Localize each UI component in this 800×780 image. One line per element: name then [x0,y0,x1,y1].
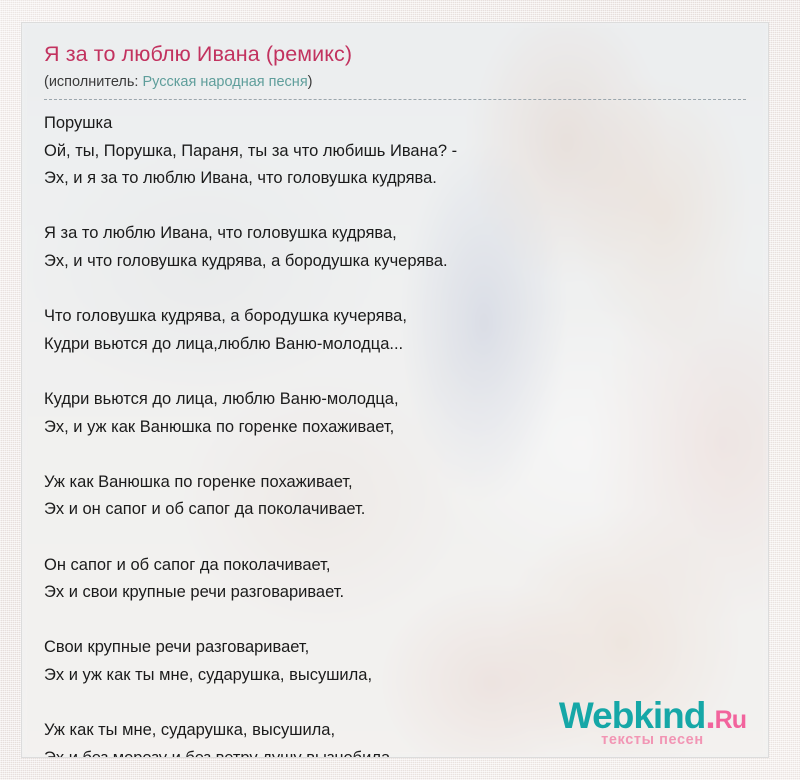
logo-dot: . [705,695,714,736]
logo-word: Webkind [559,695,706,736]
song-content-panel: Я за то люблю Ивана (ремикс) (исполнител… [21,22,769,758]
artist-link[interactable]: Русская народная песня [142,74,307,90]
panel-inner: Я за то люблю Ивана (ремикс) (исполнител… [22,23,768,757]
artist-label: (исполнитель: [44,74,142,90]
lyrics-text: Порушка Ой, ты, Порушка, Параня, ты за ч… [44,110,746,758]
header-divider [44,99,746,100]
artist-line: (исполнитель: Русская народная песня) [44,73,746,92]
site-logo[interactable]: Webkind.Ru тексты песен [559,697,746,748]
artist-suffix: ) [308,74,313,90]
page-title: Я за то люблю Ивана (ремикс) [44,41,746,67]
logo-tld: Ru [715,706,746,734]
